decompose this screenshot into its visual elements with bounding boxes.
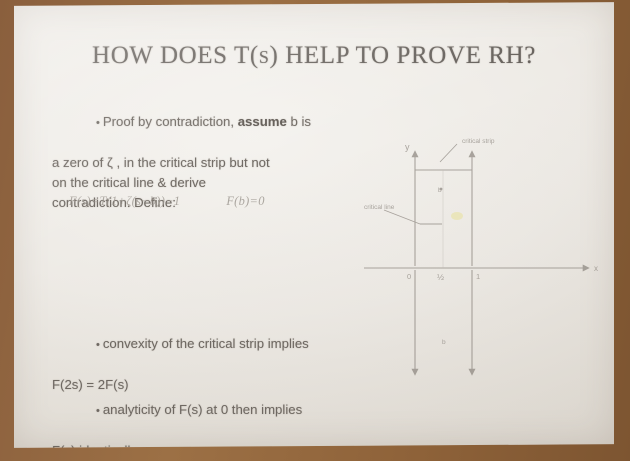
formula-row: F(s)=T(1+ζ(s−b))−1 F(b)=0	[69, 194, 349, 209]
bullet-1-text-a: Proof by contradiction,	[103, 114, 238, 129]
bullet-2-text: convexity of the critical strip implies	[103, 336, 309, 351]
x-axis-label: x	[594, 264, 598, 273]
critical-line-label: critical line	[364, 204, 395, 211]
bullet-marker-icon: •	[96, 405, 103, 417]
bullet-1-line-2: a zero of ζ , in the critical strip but …	[52, 153, 352, 173]
bullet-2-line-1: •convexity of the critical strip implies	[52, 314, 352, 375]
y-axis-label: y	[405, 142, 410, 152]
bullet-marker-icon: •	[96, 117, 103, 129]
bullet-item-4: •this implies ζ(s) is identically zero, …	[52, 445, 352, 448]
formula-definition: F(s)=T(1+ζ(s−b))−1	[69, 194, 180, 209]
point-b-label: b	[438, 187, 442, 194]
bullet-1-line-3: on the critical line & derive	[52, 173, 352, 193]
bullet-4-line-1: •this implies ζ(s) is identically zero,	[52, 445, 352, 448]
critical-strip-diagram: y x critical strip critical line 0 ½ 1 b…	[362, 132, 614, 384]
tick-label-1: 1	[476, 272, 480, 281]
photo-frame: HOW DOES T(s) HELP TO PROVE RH? •Proof b…	[0, 0, 630, 461]
bullet-3-text: analyticity of F(s) at 0 then implies	[103, 402, 302, 417]
critical-strip-label: critical strip	[462, 138, 495, 145]
tick-label-half: ½	[437, 272, 444, 282]
bullet-item-3: •analyticity of F(s) at 0 then implies F…	[52, 380, 352, 448]
critical-strip-leader	[440, 144, 457, 162]
slide-title: HOW DOES T(s) HELP TO PROVE RH?	[14, 42, 614, 70]
presentation-slide: HOW DOES T(s) HELP TO PROVE RH? •Proof b…	[14, 2, 614, 448]
point-b-label-lower: b	[442, 339, 446, 346]
highlight-mark	[451, 212, 463, 220]
bullet-1-bold: assume	[238, 114, 287, 129]
tick-label-0: 0	[407, 272, 411, 281]
bullet-1-line-1: •Proof by contradiction, assume b is	[52, 92, 352, 153]
bullet-1-text-b: b is	[287, 114, 311, 129]
formula-zero-condition: F(b)=0	[226, 194, 264, 209]
bullet-marker-icon: •	[96, 339, 103, 351]
bullet-3-line-1: •analyticity of F(s) at 0 then implies	[52, 380, 352, 441]
